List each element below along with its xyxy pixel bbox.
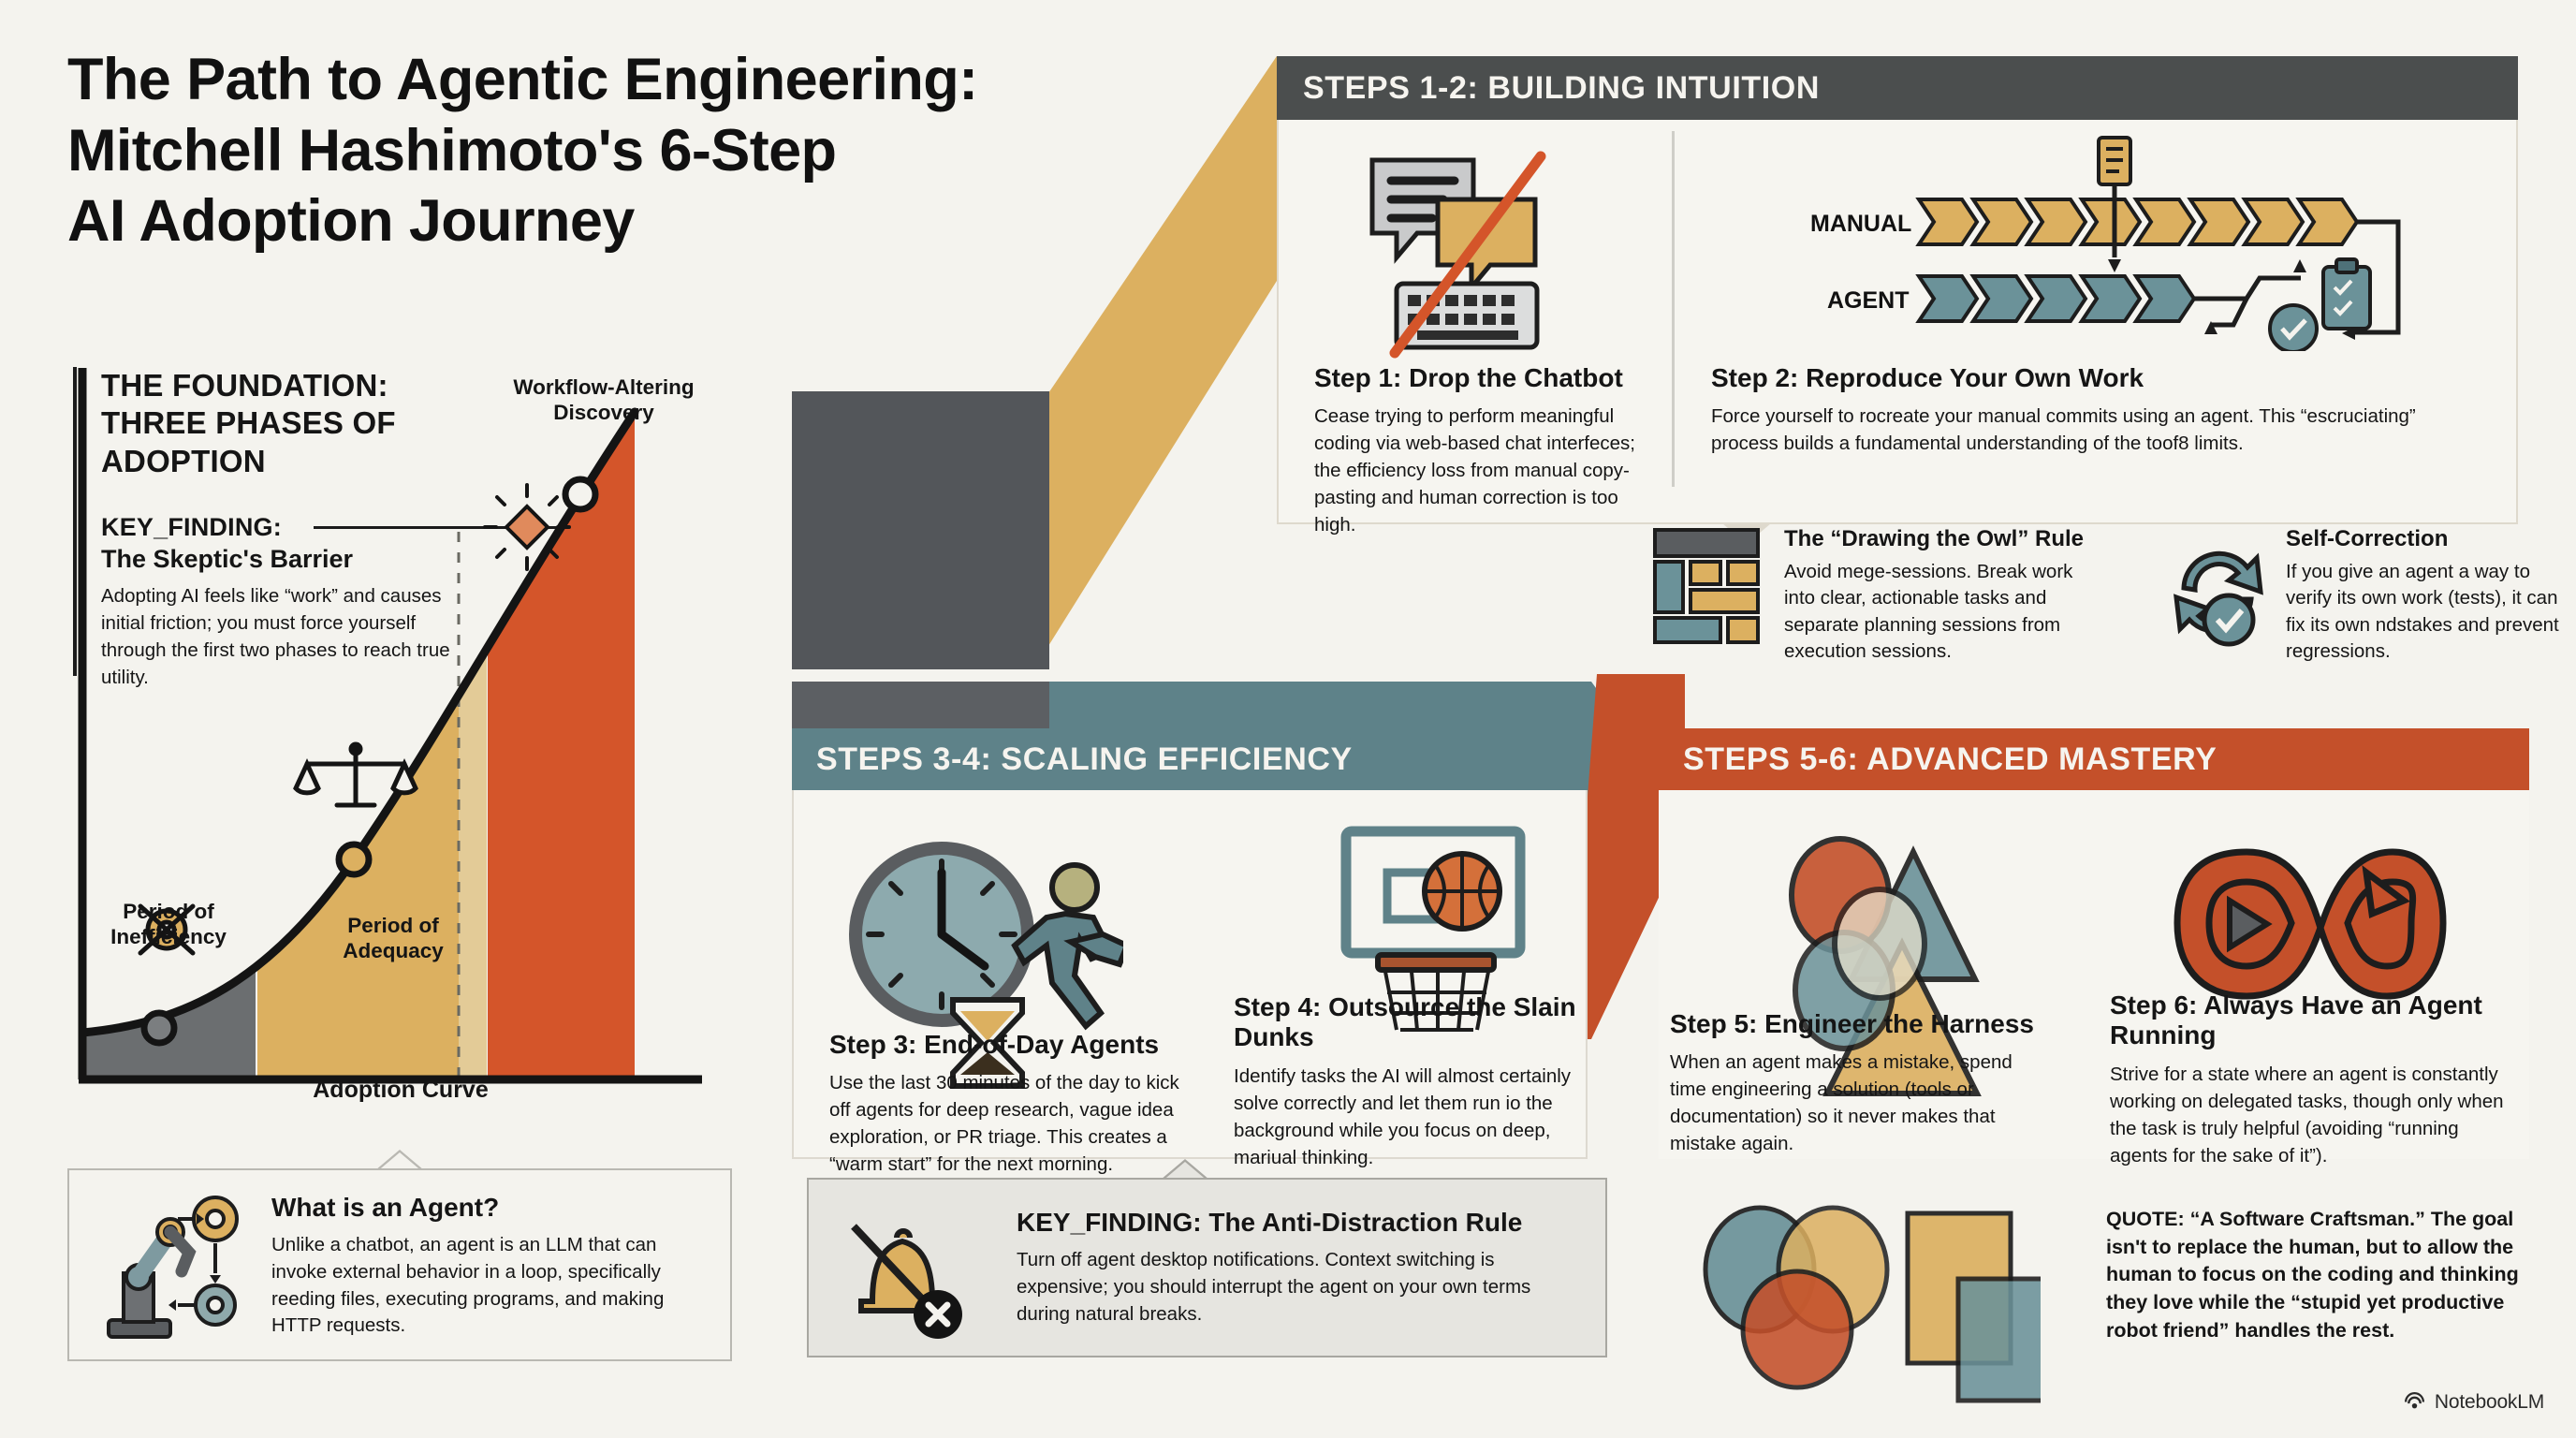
chart-x-label: Adoption Curve [73, 1077, 728, 1104]
mini-card-owl-title: The “Drawing the Owl” Rule [1784, 526, 2102, 552]
flow-label-agent: AGENT [1827, 287, 1910, 314]
step-6-text: Step 6: Always Have an Agent Running Str… [2110, 990, 2518, 1170]
label-period-of-inefficiency: Period of Inefficiency [80, 899, 257, 950]
agent-card-body: Unlike a chatbot, an agent is an LLM tha… [271, 1232, 711, 1340]
band-adequacy [257, 363, 459, 1089]
agent-card-heading: What is an Agent? [271, 1193, 711, 1223]
mini-card-owl-body: Avoid mege-sessions. Break work into cle… [1784, 559, 2102, 665]
step-2-title: Step 2: Reproduce Your Own Work [1711, 363, 2488, 393]
header-steps-3-4: STEPS 3-4: SCALING EFFICIENCY [792, 728, 1588, 790]
marker-inefficiency [144, 1013, 174, 1043]
anti-card-heading: KEY_FINDING: The Anti-Distraction Rule [1017, 1208, 1578, 1238]
step-2-body: Force yourself to rocreate your manual c… [1711, 404, 2488, 458]
header-steps-5-6: STEPS 5-6: ADVANCED MASTERY [1659, 728, 2529, 790]
step-5-title: Step 5: Engineer the Harness [1670, 1009, 2044, 1039]
what-is-an-agent-card: What is an Agent? Unlike a chatbot, an a… [67, 1168, 732, 1361]
marker-adequacy [339, 844, 369, 874]
sparkle-icon [485, 485, 569, 569]
brand-label: NotebookLM [2435, 1391, 2544, 1414]
step-3-title: Step 3: End-of-Day Agents [829, 1030, 1194, 1060]
robot-arm-gears-icon [95, 1187, 264, 1351]
mini-card-owl: The “Drawing the Owl” Rule Avoid mege-se… [1784, 526, 2102, 665]
adoption-curve-chart [73, 363, 728, 1089]
step-6-body: Strive for a state where an agent is con… [2110, 1062, 2518, 1170]
brand-notebooklm: NotebookLM [2403, 1390, 2544, 1414]
step-2-text: Step 2: Reproduce Your Own Work Force yo… [1711, 363, 2488, 458]
flow-label-manual: MANUAL [1810, 211, 1911, 237]
header-steps-1-2: STEPS 1-2: BUILDING INTUITION [1277, 56, 2518, 120]
infographic-root: The Path to Agentic Engineering: Mitchel… [0, 0, 2576, 1438]
title-line-2: Mitchell Hashimoto's 6-Step [67, 116, 1284, 187]
step-6-title: Step 6: Always Have an Agent Running [2110, 990, 2518, 1051]
step-4-body: Identify tasks the AI will almost certai… [1234, 1064, 1580, 1172]
band-discovery [488, 363, 637, 1089]
block-layout-icon [1649, 526, 1762, 648]
step-divider [1672, 131, 1675, 487]
manual-vs-agent-flow-icon: MANUAL AGENT [1769, 136, 2490, 351]
bell-off-icon [833, 1196, 988, 1346]
quote-text: QUOTE: “A Software Craftsman.” The goal … [2106, 1206, 2527, 1344]
title-line-3: AI Adoption Journey [67, 186, 1284, 257]
step-1-body: Cease trying to perform meaningful codin… [1314, 404, 1647, 538]
anti-distraction-card: KEY_FINDING: The Anti-Distraction Rule T… [807, 1178, 1607, 1357]
band-inefficiency [73, 363, 256, 1089]
label-workflow-altering-discovery: Workflow-Altering Discovery [487, 374, 721, 426]
ribbon-gray-upper [792, 391, 1049, 669]
circular-arrows-check-icon [2158, 522, 2279, 658]
step-3-body: Use the last 30 minutes of the day to ki… [829, 1070, 1194, 1179]
mini-card-selfcorrection: Self-Correction If you give an agent a w… [2286, 526, 2567, 665]
step-1-text: Step 1: Drop the Chatbot Cease trying to… [1314, 363, 1647, 539]
step-1-title: Step 1: Drop the Chatbot [1314, 363, 1647, 393]
no-chatbot-keyboard-icon [1357, 145, 1610, 360]
step-5-body: When an agent makes a mistake, spend tim… [1670, 1049, 2044, 1158]
mini-card-selfcorrection-body: If you give an agent a way to verify its… [2286, 559, 2567, 665]
step-4-title: Step 4: Outsource the Slain Dunks [1234, 992, 1580, 1053]
step-4-text: Step 4: Outsource the Slain Dunks Identi… [1234, 992, 1580, 1172]
step-5-text: Step 5: Engineer the Harness When an age… [1670, 1009, 2044, 1158]
label-period-of-adequacy: Period of Adequacy [309, 913, 477, 964]
mini-card-selfcorrection-title: Self-Correction [2286, 526, 2567, 552]
marker-discovery [565, 479, 595, 509]
title-line-1: The Path to Agentic Engineering: [67, 45, 1284, 116]
step-3-text: Step 3: End-of-Day Agents Use the last 3… [829, 1030, 1194, 1179]
page-title: The Path to Agentic Engineering: Mitchel… [67, 45, 1284, 257]
anti-card-body: Turn off agent desktop notifications. Co… [1017, 1247, 1578, 1328]
venn-squares-icon [1676, 1198, 2041, 1404]
notebooklm-icon [2403, 1390, 2426, 1414]
